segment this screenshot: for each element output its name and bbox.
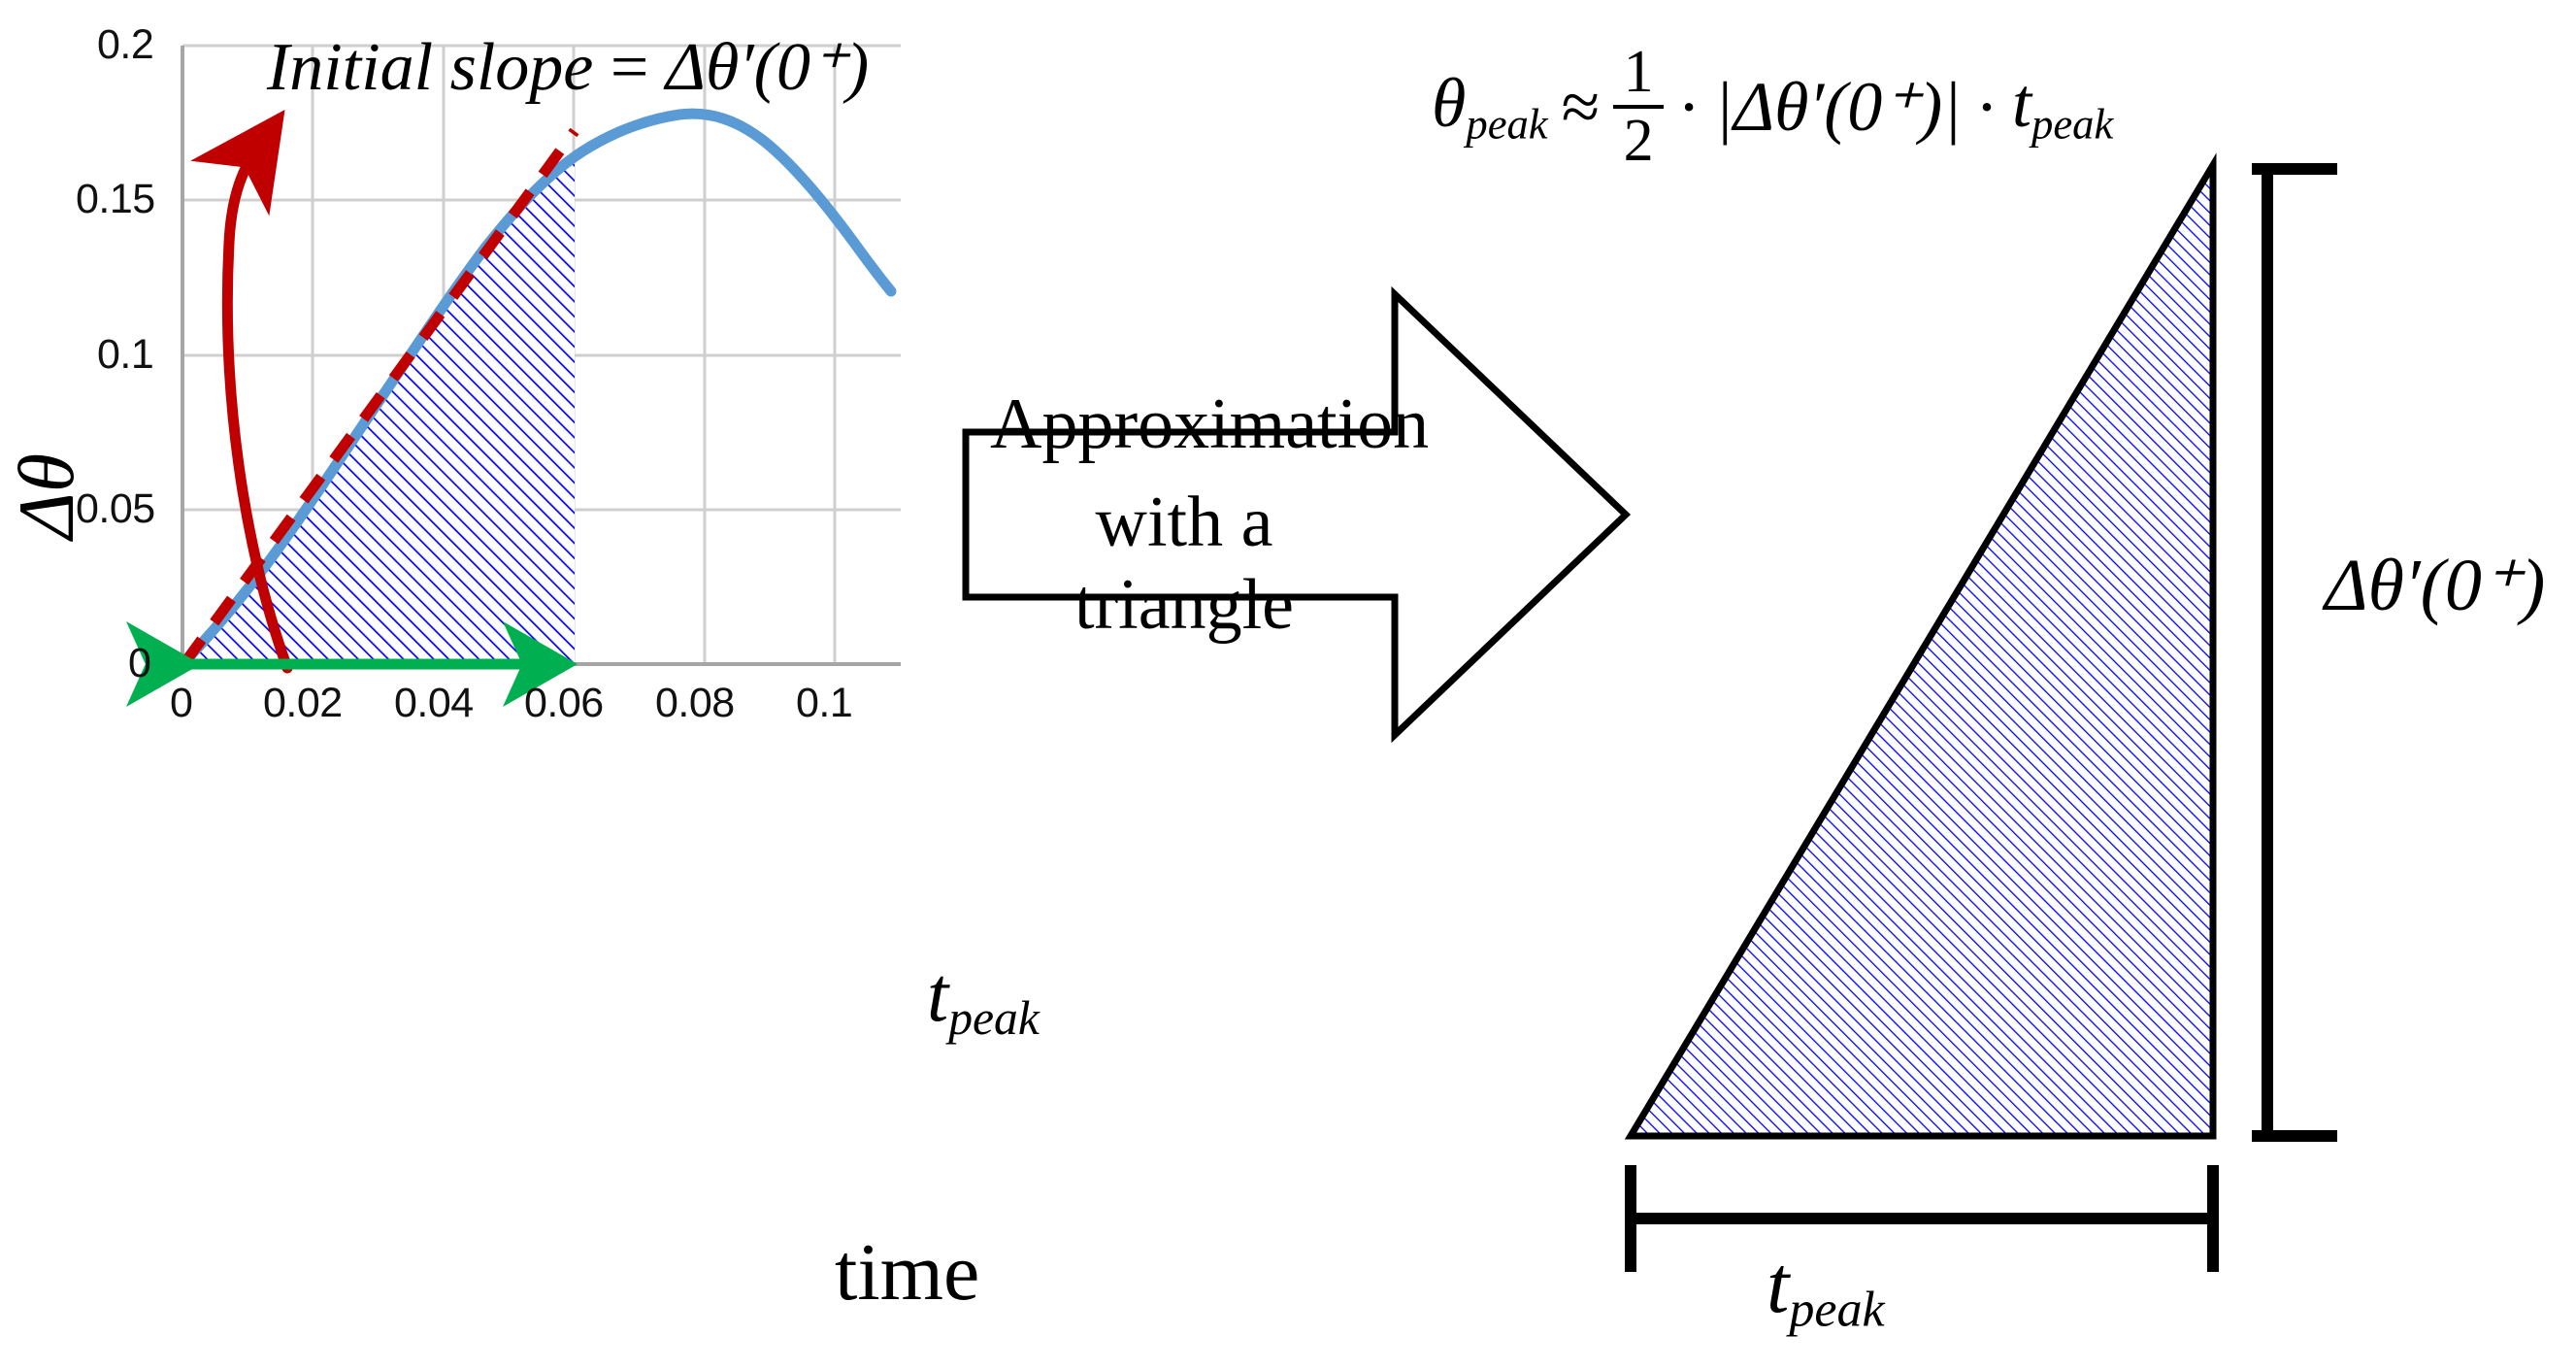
approximation-triangle [1631,165,2213,1136]
figure-canvas: 0.2 0.15 0.1 0.05 0 0 0.02 0.04 0.06 0.0… [0,0,2576,1369]
eq-abs-term: |Δθ′(0⁺)| [1714,72,1962,142]
eq-rhs: tpeak [2012,68,2113,146]
left-tpeak-label: tpeak [927,956,1040,1042]
xtick-2: 0.04 [394,680,474,727]
ytick-1: 0.15 [76,176,155,223]
eq-dot-2: · [1975,72,1998,142]
eq-frac-numerator: 1 [1624,44,1654,101]
eq-fraction: 1 2 [1613,44,1664,170]
y-axis-label: Δθ [7,428,86,564]
ytick-2: 0.1 [97,331,153,379]
left-tpeak-sub: peak [948,991,1040,1045]
horizontal-dimension-bracket [1631,1165,2213,1272]
initial-slope-expression: Δθ′(0⁺) [666,30,869,105]
xtick-4: 0.08 [655,680,735,727]
peak-equation: θpeak ≈ 1 2 · |Δθ′(0⁺)| · tpeak [1432,44,2113,170]
triangle-base-label: tpeak [1767,1245,1885,1336]
initial-slope-annotation: Initial slope = Δθ′(0⁺) [267,34,869,102]
initial-slope-equals: = [611,30,648,105]
eq-rhs-sub: peak [2031,99,2113,148]
xtick-3: 0.06 [524,680,604,727]
xtick-0: 0 [170,680,192,727]
ytick-4: 0 [128,640,150,687]
approximation-arrow-line2: with a triangle [990,482,1378,647]
approximation-arrow-line1: Approximation [990,384,1378,466]
ytick-0: 0.2 [97,21,153,69]
vertical-dimension-bracket [2252,169,2337,1136]
xtick-5: 0.1 [796,680,852,727]
initial-slope-text: Initial slope [267,30,593,105]
triangle-approximation-svg [1543,165,2339,1262]
x-axis-label: time [835,1225,979,1319]
eq-frac-denominator: 2 [1624,113,1654,170]
eq-lhs: θpeak [1432,68,1548,146]
triangle-height-label: Δθ′(0⁺) [2325,549,2545,622]
eq-dot-1: · [1677,72,1701,142]
triangle-base-sub: peak [1789,1283,1884,1338]
eq-approx: ≈ [1562,72,1601,142]
xtick-1: 0.02 [263,680,343,727]
eq-lhs-sub: peak [1466,99,1547,148]
